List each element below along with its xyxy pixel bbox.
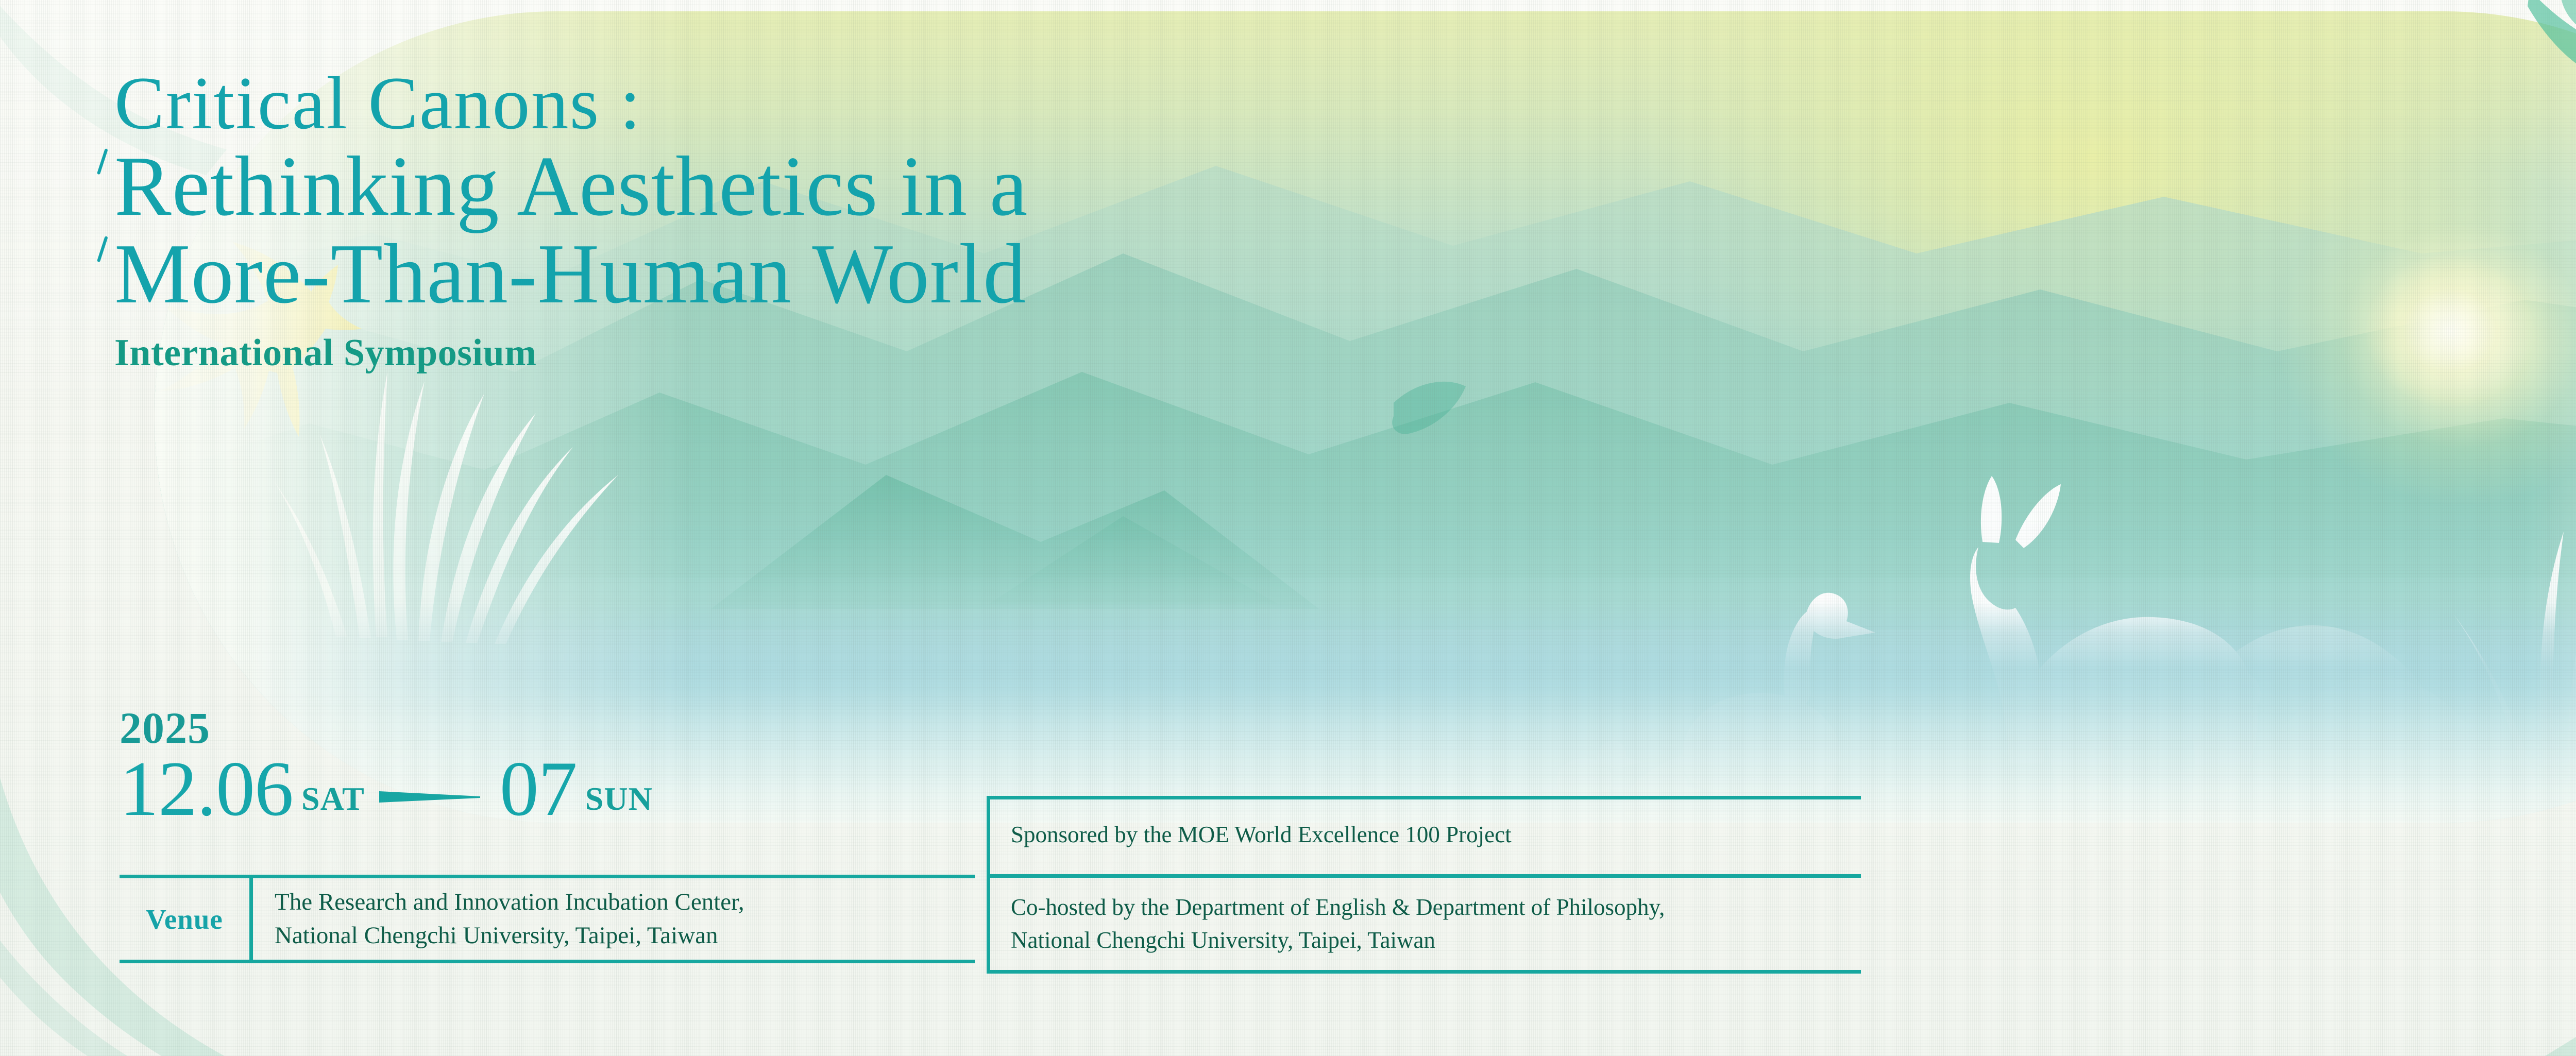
cohosted-by-line-1: Co-hosted by the Department of English &…: [1011, 891, 1665, 924]
date-range-dash-icon: [379, 788, 487, 806]
symposium-poster: Critical Canons : Rethinking Aesthetics …: [0, 0, 2576, 1056]
venue-divider: [249, 878, 253, 960]
start-date: 12.06: [120, 753, 293, 825]
sponsored-by-text: Sponsored by the MOE World Excellence 10…: [1011, 819, 1512, 851]
subtitle: International Symposium: [114, 331, 1028, 375]
end-day-of-week: SUN: [585, 780, 653, 818]
cohosted-by-line-2: National Chengchi University, Taipei, Ta…: [1011, 924, 1665, 957]
event-year: 2025: [120, 706, 653, 750]
title-line-1: Critical Canons :: [114, 66, 1028, 141]
venue-label: Venue: [120, 878, 249, 960]
title-block: Critical Canons : Rethinking Aesthetics …: [114, 66, 1028, 375]
leaf-branch-bottom-right-icon: [2545, 726, 2576, 1056]
date-block: 2025 12.06 SAT 07 SUN: [120, 706, 653, 825]
venue-line-1: The Research and Innovation Incubation C…: [275, 885, 975, 919]
cohosted-by-cell: Co-hosted by the Department of English &…: [1011, 878, 1665, 970]
leaf-branch-top-right-icon: [2499, 0, 2576, 371]
sponsor-box: Sponsored by the MOE World Excellence 10…: [987, 796, 1857, 974]
end-date: 07: [500, 753, 577, 825]
title-line-3: More-Than-Human World: [114, 231, 1028, 316]
sponsor-rule-bottom: [990, 970, 1861, 974]
sponsored-by-cell: Sponsored by the MOE World Excellence 10…: [1011, 796, 1512, 874]
date-range-row: 12.06 SAT 07 SUN: [120, 753, 653, 825]
title-line-2: Rethinking Aesthetics in a: [114, 144, 1028, 228]
start-day-of-week: SAT: [301, 780, 365, 818]
venue-text: The Research and Innovation Incubation C…: [253, 878, 975, 960]
sponsor-rule-mid: [990, 874, 1861, 878]
venue-line-2: National Chengchi University, Taipei, Ta…: [275, 919, 975, 952]
title-accent-tick-2: [97, 236, 108, 262]
venue-box: Venue The Research and Innovation Incuba…: [120, 875, 975, 963]
